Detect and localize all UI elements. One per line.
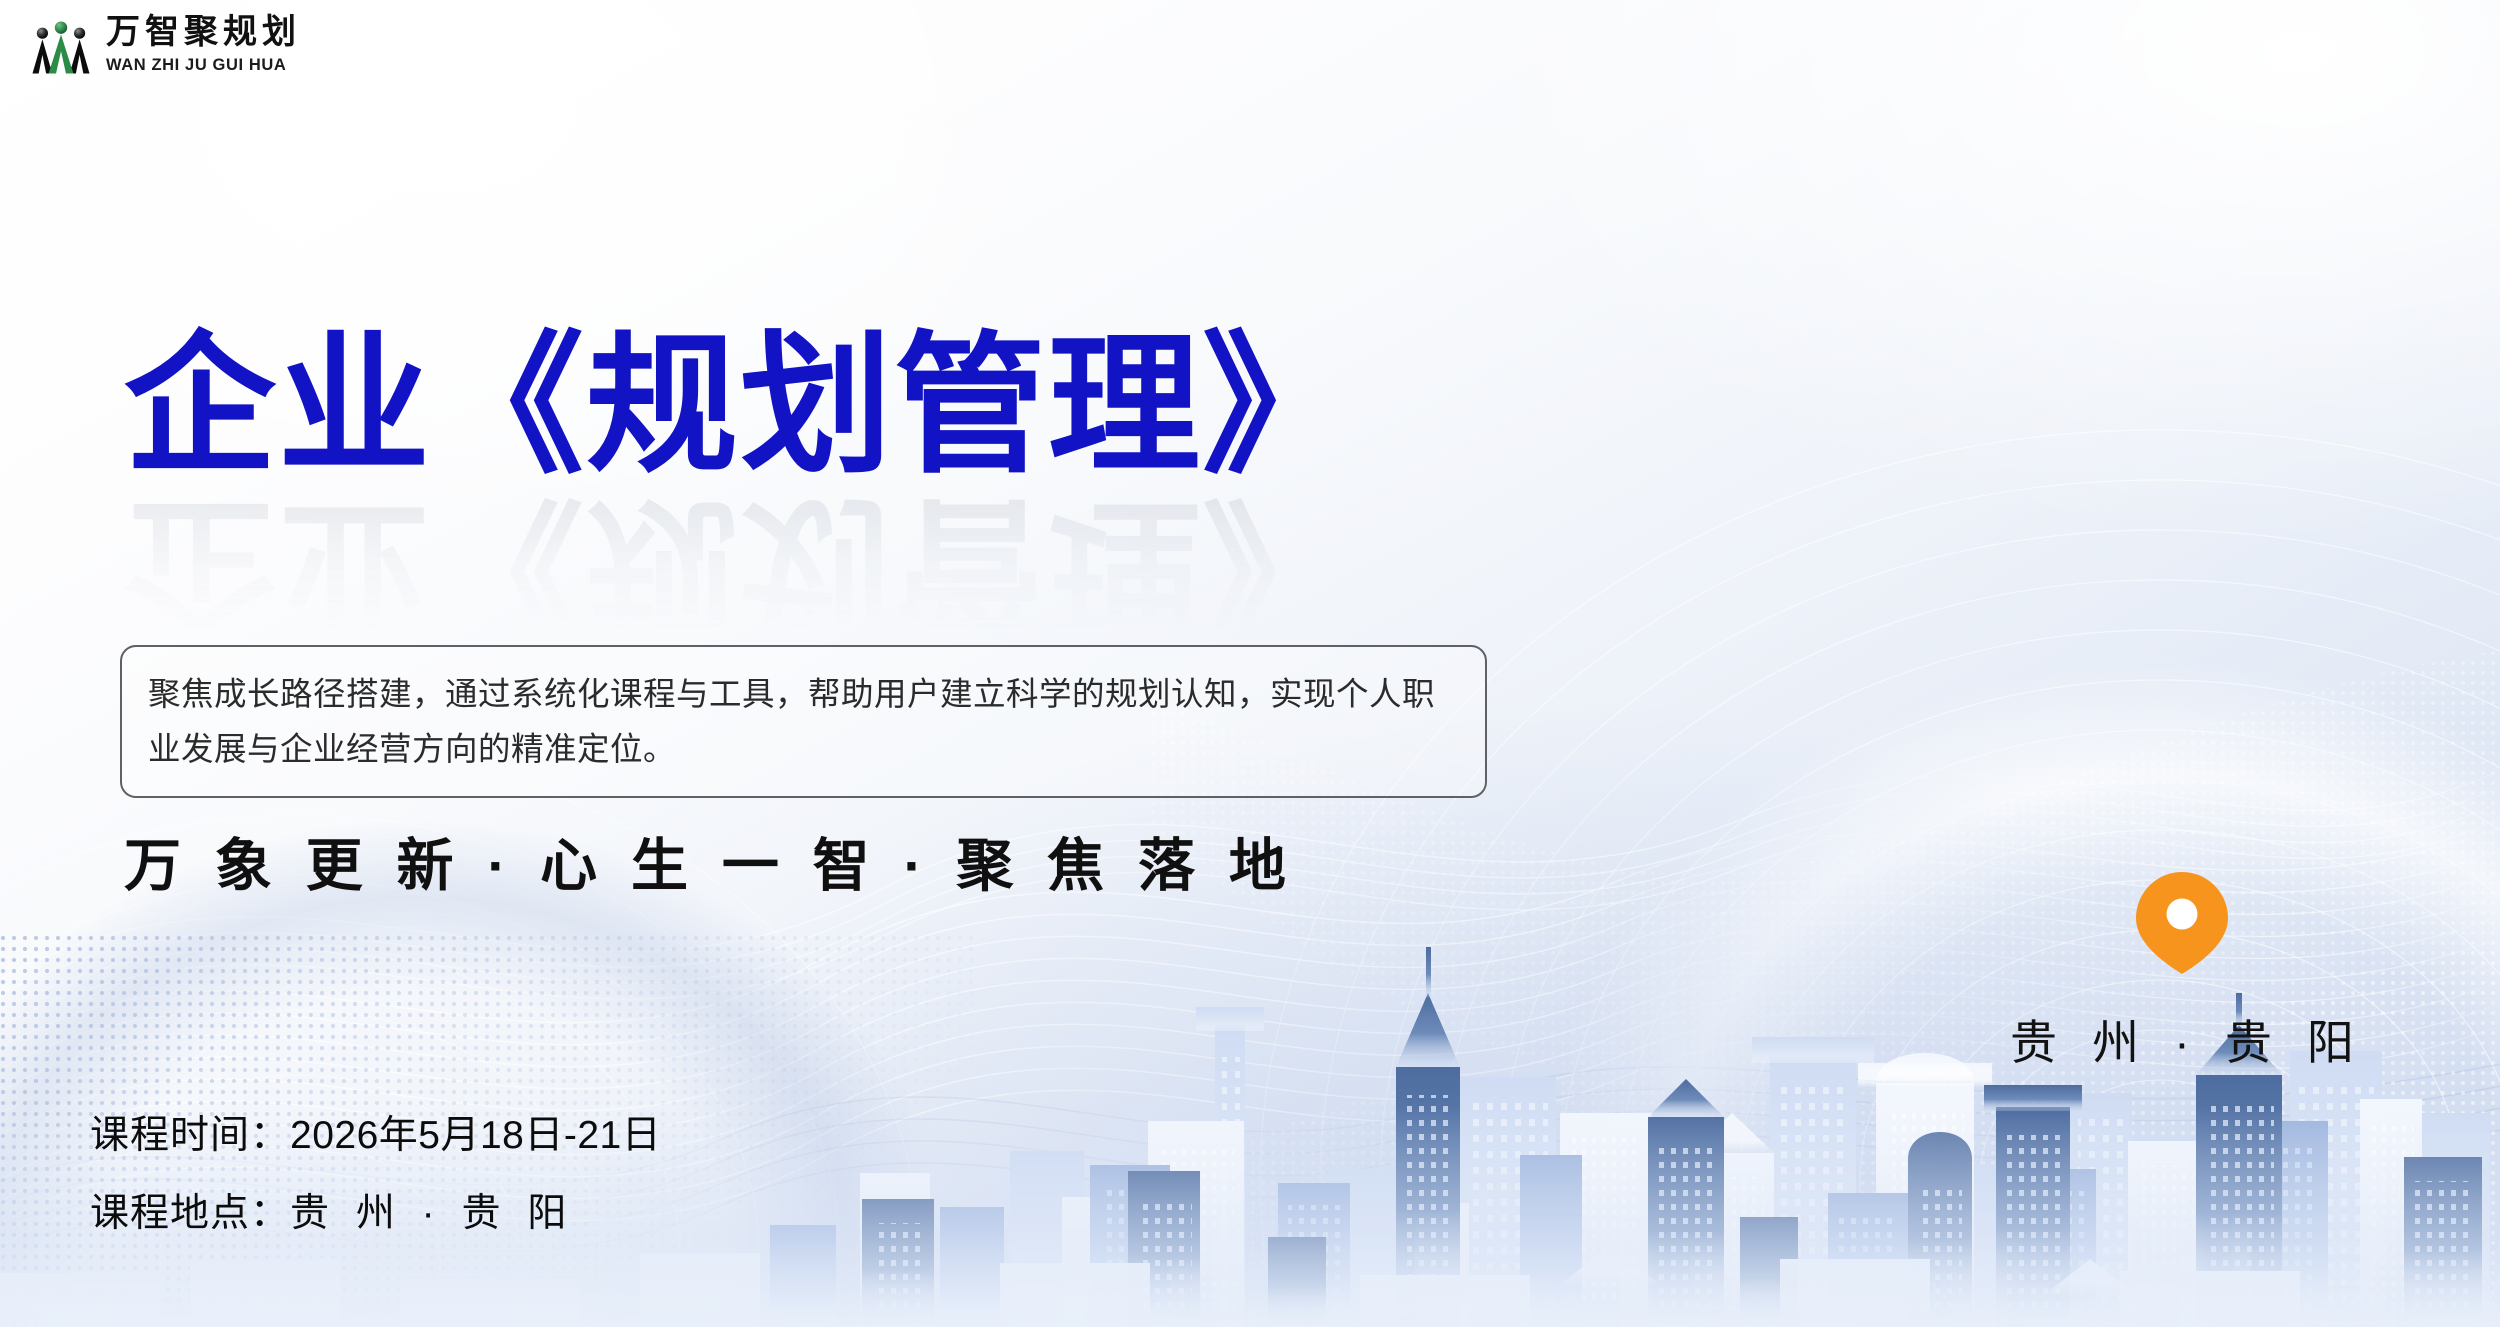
- three-people-logo-icon: [30, 14, 92, 76]
- hero-title-zone: 企业《规划管理》 企业《规划管理》: [124, 330, 1356, 482]
- description-box: 聚焦成长路径搭建，通过系统化课程与工具，帮助用户建立科学的规划认知，实现个人职业…: [120, 645, 1487, 798]
- brand-logo[interactable]: 万智聚规划 WAN ZHI JU GUI HUA: [30, 14, 301, 76]
- course-place-line: 课程地点：贵 州 · 贵 阳: [90, 1194, 661, 1233]
- brand-name-en: WAN ZHI JU GUI HUA: [106, 57, 301, 74]
- course-info-block: 课程时间：2026年5月18日-21日 课程地点：贵 州 · 贵 阳: [90, 1116, 661, 1233]
- page-title: 企业《规划管理》: [124, 330, 1356, 482]
- course-time-label: 课程时间：: [90, 1114, 290, 1157]
- location-block: 贵 州 · 贵 阳: [1952, 872, 2412, 1073]
- page-title-reflection: 企业《规划管理》: [124, 490, 1356, 642]
- course-place-value: 贵 州 · 贵 阳: [290, 1192, 574, 1235]
- course-place-label: 课程地点：: [90, 1192, 290, 1235]
- brand-name-cn: 万智聚规划: [106, 16, 301, 50]
- course-time-line: 课程时间：2026年5月18日-21日: [90, 1116, 661, 1155]
- location-name: 贵 州 · 贵 阳: [1952, 1004, 2412, 1073]
- slogan-text: 万 象 更 新 · 心 生 一 智 · 聚 焦 落 地: [124, 820, 1295, 902]
- location-pin-icon: [2136, 872, 2228, 974]
- description-text: 聚焦成长路径搭建，通过系统化课程与工具，帮助用户建立科学的规划认知，实现个人职业…: [148, 667, 1459, 778]
- brand-text: 万智聚规划 WAN ZHI JU GUI HUA: [106, 16, 301, 74]
- poster-canvas: 万智聚规划 WAN ZHI JU GUI HUA 企业《规划管理》 企业《规划管…: [0, 0, 2500, 1327]
- course-time-value: 2026年5月18日-21日: [290, 1114, 661, 1157]
